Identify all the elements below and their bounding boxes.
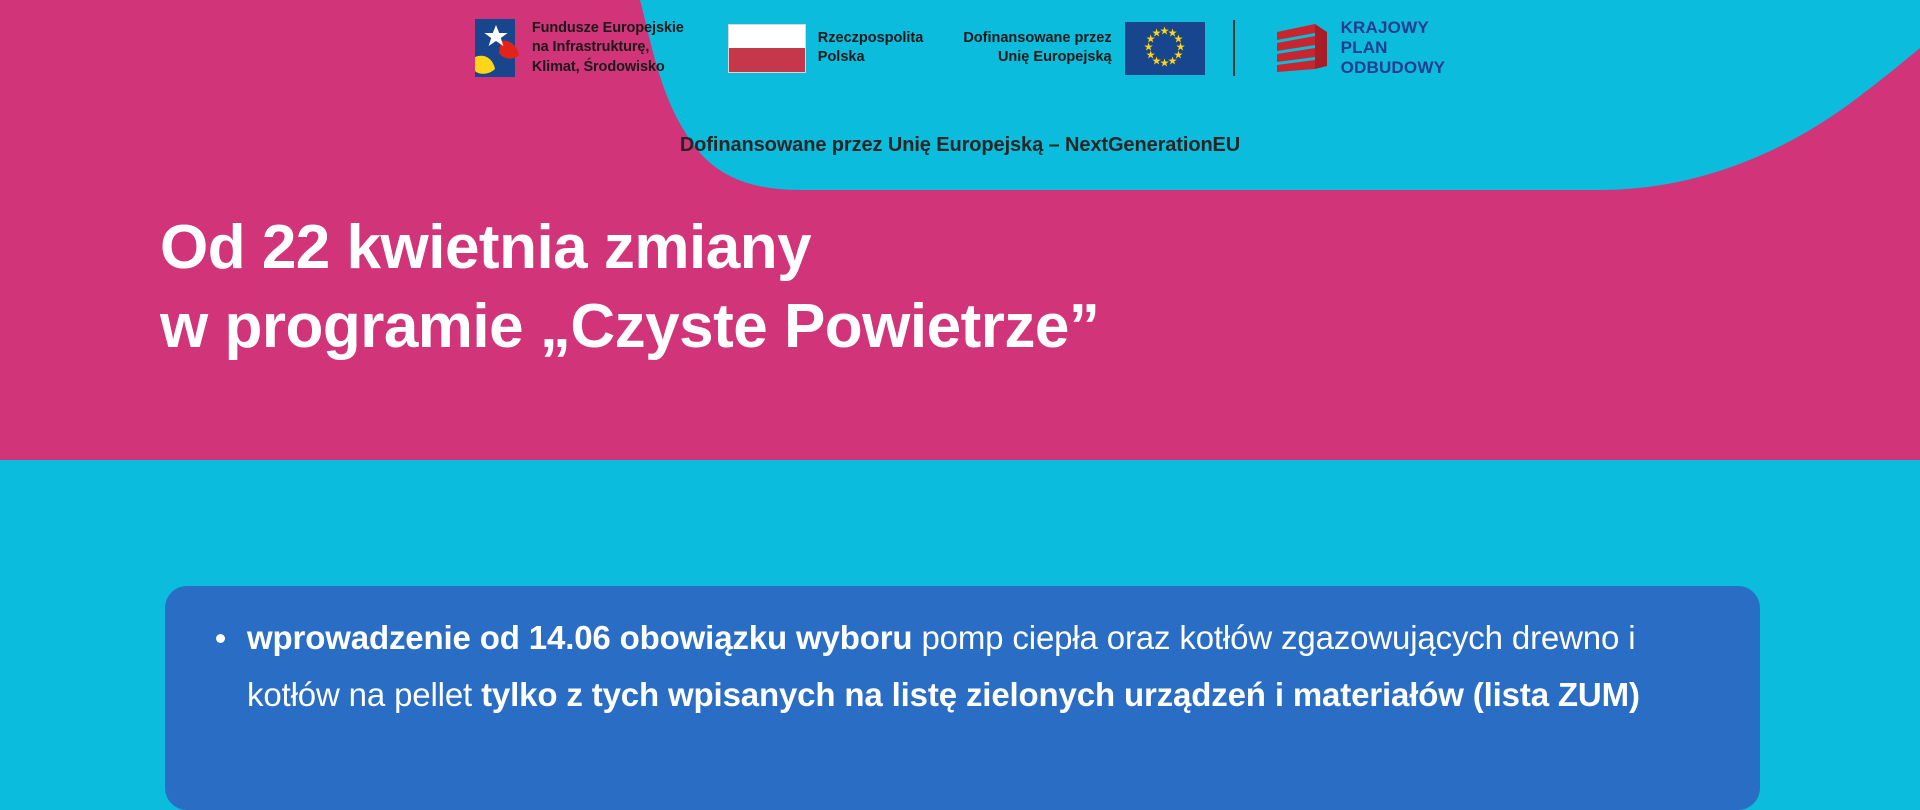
- eu-star-icon: ★: [1151, 29, 1162, 40]
- krajowy-plan-odbudowy-logo: [1275, 22, 1329, 74]
- krajowy-plan-odbudowy-text: KRAJOWY PLAN ODBUDOWY: [1341, 18, 1446, 78]
- poland-flag-icon: [728, 24, 806, 73]
- eu-line-2: Unię Europejską: [963, 48, 1111, 67]
- fe-line-1: Fundusze Europejskie: [532, 19, 684, 38]
- bullet-text-emphasis: wprowadzenie od 14.06 obowiązku wyboru: [247, 619, 912, 656]
- kpo-line-2: PLAN: [1341, 38, 1446, 58]
- poster-canvas: Fundusze Europejskie na Infrastrukturę, …: [0, 0, 1920, 810]
- list-item: wprowadzenie od 14.06 obowiązku wyboru p…: [211, 610, 1714, 724]
- kpo-line-3: ODBUDOWY: [1341, 58, 1446, 78]
- bullet-list: wprowadzenie od 14.06 obowiązku wyboru p…: [211, 610, 1714, 724]
- funding-logo-strip: Fundusze Europejskie na Infrastrukturę, …: [0, 0, 1920, 96]
- vertical-divider: [1233, 20, 1235, 76]
- info-callout-box: wprowadzenie od 14.06 obowiązku wyboru p…: [165, 586, 1760, 810]
- european-union-flag-icon: ★★★★★★★★★★★★: [1125, 22, 1205, 75]
- fundusze-europejskie-text: Fundusze Europejskie na Infrastrukturę, …: [532, 19, 684, 76]
- funding-subtitle: Dofinansowane przez Unię Europejską – Ne…: [0, 134, 1920, 157]
- kpo-line-1: KRAJOWY: [1341, 18, 1446, 38]
- logo-european-union: Dofinansowane przez Unię Europejską ★★★★…: [963, 22, 1204, 75]
- headline-line-1: Od 22 kwietnia zmiany: [160, 208, 1099, 287]
- eu-line-1: Dofinansowane przez: [963, 29, 1111, 48]
- logo-rzeczpospolita-polska: Rzeczpospolita Polska: [728, 24, 924, 73]
- european-union-funding-text: Dofinansowane przez Unię Europejską: [963, 29, 1111, 67]
- logo-fundusze-europejskie: Fundusze Europejskie na Infrastrukturę, …: [475, 19, 684, 77]
- rp-line-1: Rzeczpospolita: [818, 29, 924, 48]
- headline-line-2: w programie „Czyste Powietrze”: [160, 287, 1099, 366]
- rp-line-2: Polska: [818, 48, 924, 67]
- rzeczpospolita-polska-text: Rzeczpospolita Polska: [818, 29, 924, 67]
- fe-line-3: Klimat, Środowisko: [532, 58, 684, 77]
- bullet-text-emphasis: tylko z tych wpisanych na listę zielonyc…: [481, 676, 1640, 713]
- fundusze-europejskie-logo: [475, 19, 521, 77]
- logo-krajowy-plan-odbudowy: KRAJOWY PLAN ODBUDOWY: [1275, 18, 1446, 78]
- page-title: Od 22 kwietnia zmiany w programie „Czyst…: [160, 208, 1099, 367]
- fe-line-2: na Infrastrukturę,: [532, 38, 684, 57]
